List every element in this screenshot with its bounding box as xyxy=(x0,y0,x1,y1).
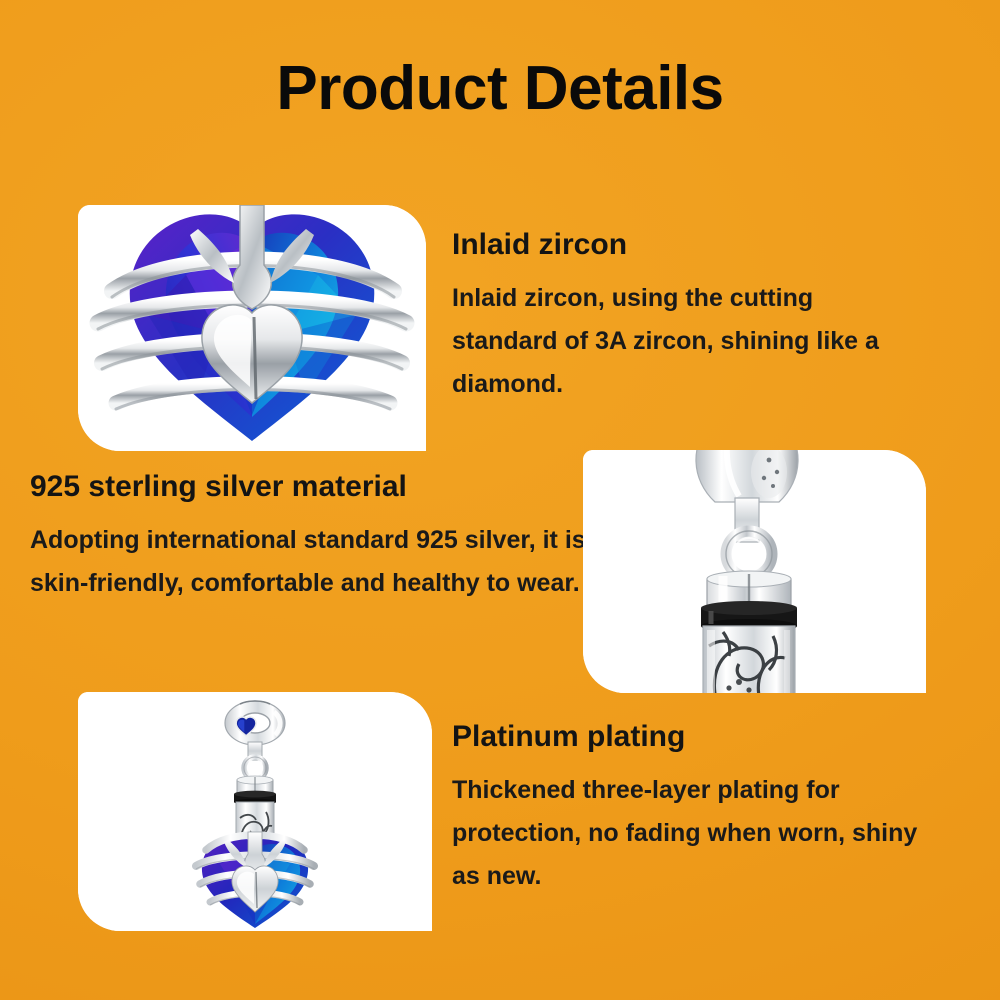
sterling-silver-barrel-illustration xyxy=(583,450,926,693)
feature-3-body: Thickened three-layer plating for protec… xyxy=(452,769,942,898)
sterling-silver-barrel-photo xyxy=(583,450,926,693)
feature-1-text: Inlaid zircon Inlaid zircon, using the c… xyxy=(452,228,922,406)
page-title: Product Details xyxy=(0,58,1000,120)
feature-1-body: Inlaid zircon, using the cutting standar… xyxy=(452,277,922,406)
feature-2-text: 925 sterling silver material Adopting in… xyxy=(30,470,590,605)
product-details-infographic: Product Details xyxy=(0,0,1000,1000)
feature-2-body: Adopting international standard 925 silv… xyxy=(30,519,590,605)
feature-2-heading: 925 sterling silver material xyxy=(30,470,590,503)
zircon-heart-closeup-illustration xyxy=(78,205,426,451)
feature-1-heading: Inlaid zircon xyxy=(452,228,922,261)
platinum-plated-full-pendant-illustration xyxy=(78,692,432,931)
zircon-heart-closeup-photo xyxy=(78,205,426,451)
platinum-plated-full-pendant-photo xyxy=(78,692,432,931)
feature-3-text: Platinum plating Thickened three-layer p… xyxy=(452,720,942,898)
feature-3-heading: Platinum plating xyxy=(452,720,942,753)
